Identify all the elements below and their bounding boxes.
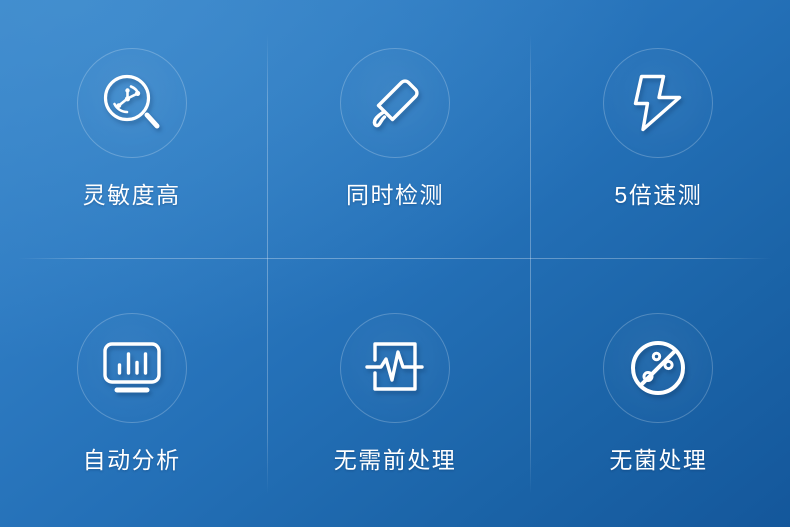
feature-label: 灵敏度高 bbox=[83, 184, 181, 207]
waveform-square-icon bbox=[365, 339, 425, 397]
feature-label: 无菌处理 bbox=[609, 449, 707, 472]
feature-card-automatic-analysis[interactable]: 自动分析 bbox=[0, 264, 263, 527]
feature-label: 无需前处理 bbox=[334, 449, 457, 472]
icon-ring bbox=[340, 313, 450, 423]
magnifier-molecule-icon bbox=[101, 72, 163, 134]
feature-label: 5倍速测 bbox=[614, 184, 702, 207]
feature-card-sterile-processing[interactable]: 无菌处理 bbox=[527, 264, 790, 527]
lightning-bolt-icon bbox=[629, 72, 687, 134]
pipette-icon bbox=[365, 73, 425, 133]
feature-label: 同时检测 bbox=[346, 184, 444, 207]
feature-card-simultaneous-detection[interactable]: 同时检测 bbox=[263, 0, 526, 264]
icon-ring bbox=[603, 313, 713, 423]
no-bacteria-icon bbox=[628, 338, 688, 398]
feature-highlights-panel: 灵敏度高 同时检测 bbox=[0, 0, 790, 527]
feature-grid: 灵敏度高 同时检测 bbox=[0, 0, 790, 527]
feature-card-high-sensitivity[interactable]: 灵敏度高 bbox=[0, 0, 263, 264]
icon-ring bbox=[603, 48, 713, 158]
icon-ring bbox=[340, 48, 450, 158]
feature-card-no-pretreatment[interactable]: 无需前处理 bbox=[263, 264, 526, 527]
icon-ring bbox=[77, 313, 187, 423]
icon-ring bbox=[77, 48, 187, 158]
monitor-bar-chart-icon bbox=[101, 340, 163, 396]
feature-card-five-times-speed[interactable]: 5倍速测 bbox=[527, 0, 790, 264]
feature-label: 自动分析 bbox=[83, 449, 181, 472]
